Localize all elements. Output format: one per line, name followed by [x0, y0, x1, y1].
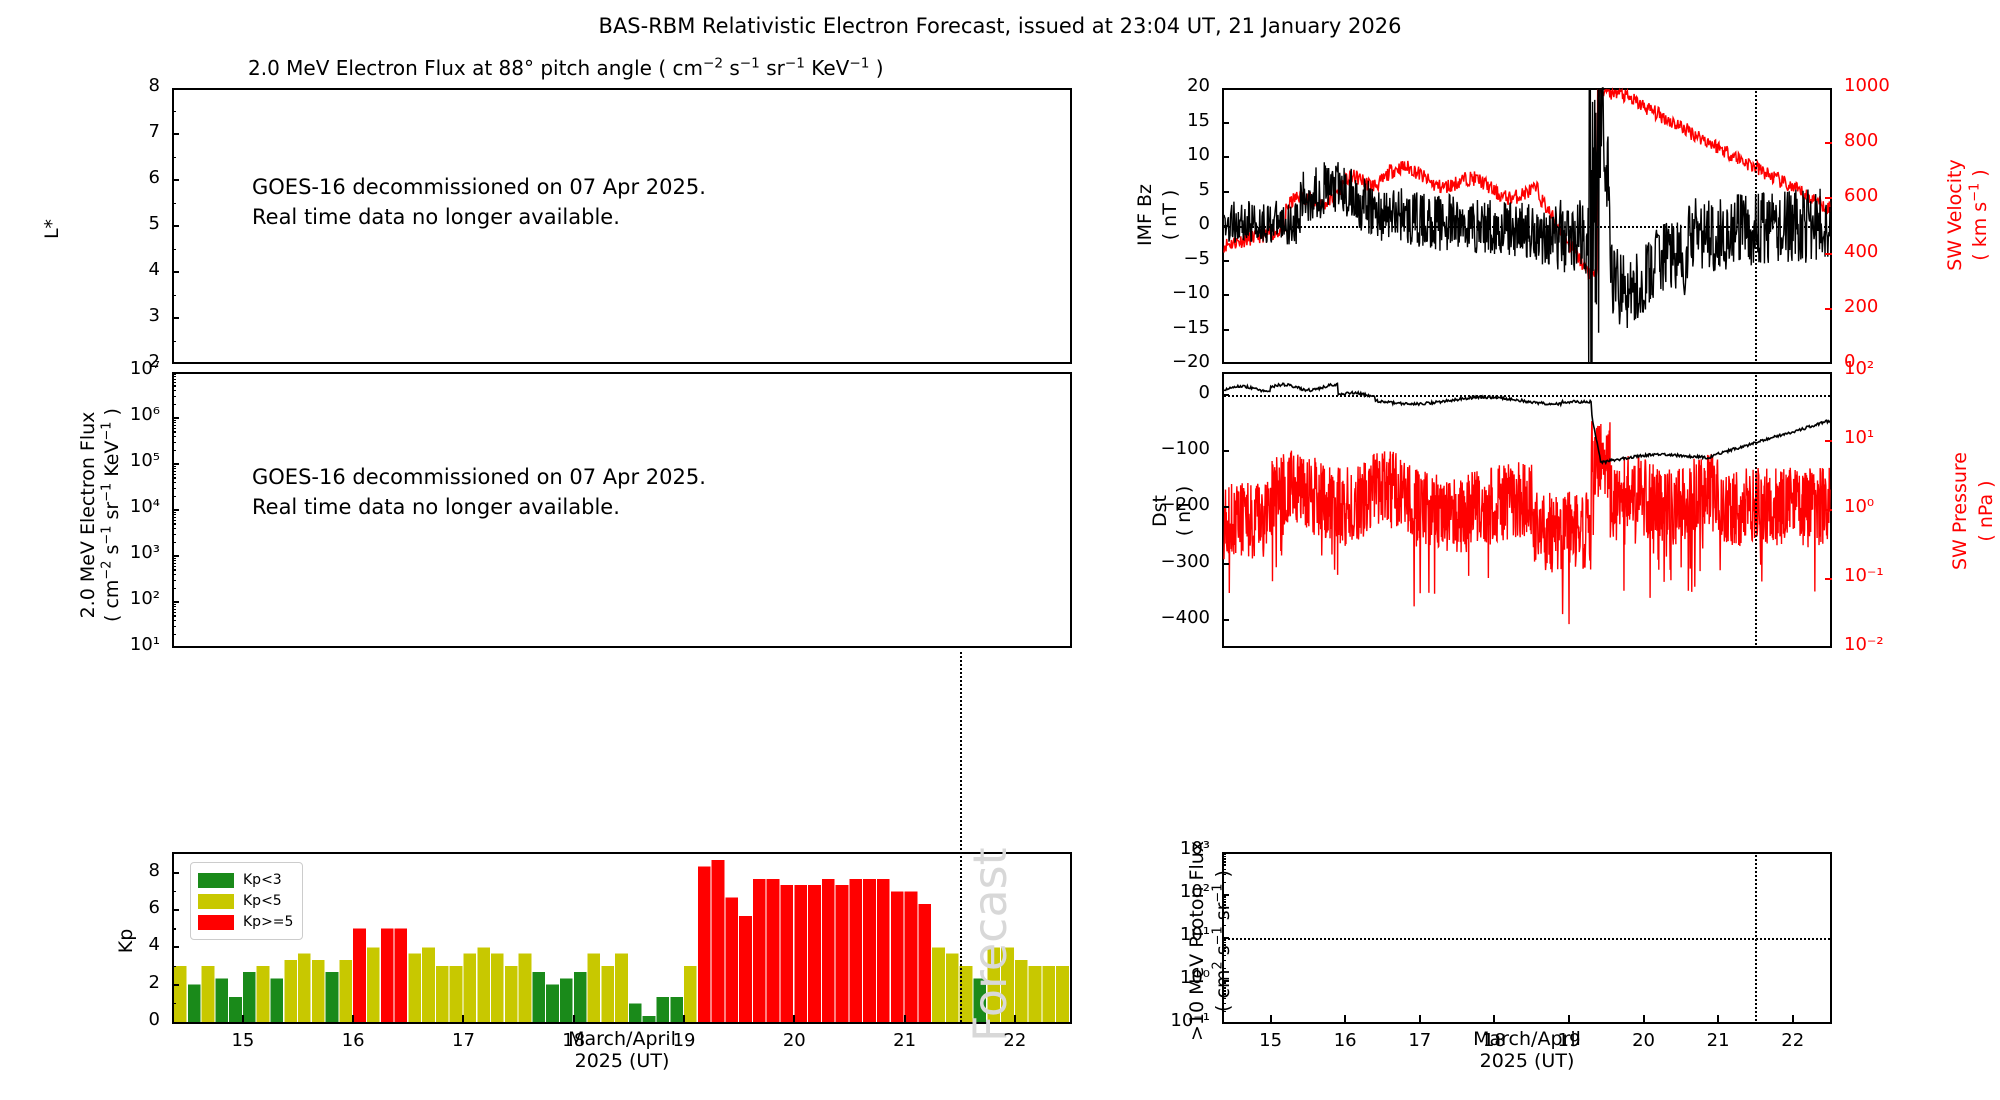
axis-tick-label: 0	[149, 1009, 160, 1030]
axis-tick	[352, 1015, 354, 1022]
axis-tick-label: 0	[1199, 213, 1210, 234]
axis-tick-label: 10⁷	[130, 358, 160, 379]
axis-tick-label: 10¹	[1180, 924, 1210, 945]
axis-tick	[172, 436, 176, 438]
axis-tick-label: 5	[149, 213, 160, 234]
bz-y-axis-label-line1: IMF Bz	[1134, 155, 1156, 275]
axis-tick	[1222, 907, 1226, 909]
axis-tick-label: 18	[1483, 1030, 1506, 1051]
axis-tick	[172, 341, 176, 343]
axis-tick-label: 20	[1632, 1030, 1655, 1051]
axis-tick	[1222, 864, 1226, 866]
kp-legend-row-mid: Kp<5	[198, 891, 293, 911]
axis-tick	[1222, 861, 1226, 863]
axis-tick-label: 4	[149, 259, 160, 280]
axis-tick	[1222, 853, 1226, 855]
axis-tick	[172, 966, 176, 968]
axis-tick-label: 20	[783, 1030, 806, 1051]
axis-tick	[1222, 947, 1226, 949]
axis-tick	[172, 390, 176, 392]
axis-tick	[1222, 563, 1229, 565]
page-title: BAS-RBM Relativistic Electron Forecast, …	[0, 14, 2000, 38]
axis-tick	[172, 425, 176, 427]
axis-tick	[172, 396, 176, 398]
axis-tick	[1825, 308, 1832, 310]
axis-tick	[1222, 619, 1229, 621]
proton-xlabel-line2: 2025 (UT)	[1377, 1050, 1677, 1072]
axis-tick-label: 15	[1259, 1030, 1282, 1051]
kp-legend-label-low: Kp<3	[243, 872, 282, 888]
forecast-divider	[1755, 852, 1757, 1024]
axis-tick-label: −20	[1172, 351, 1210, 372]
axis-tick-label: 6	[149, 897, 160, 918]
axis-tick	[172, 588, 176, 590]
axis-tick	[172, 428, 176, 430]
axis-tick-label: −200	[1161, 494, 1210, 515]
axis-tick	[172, 295, 176, 297]
flux-message-line1: GOES-16 decommissioned on 07 Apr 2025.	[252, 465, 706, 489]
axis-tick	[172, 566, 176, 568]
axis-tick-label: 10¹	[1844, 427, 1874, 448]
flux-unit-sr: sr	[101, 502, 123, 526]
axis-tick	[172, 580, 176, 582]
axis-tick	[1222, 990, 1226, 992]
axis-tick	[172, 558, 176, 560]
axis-tick	[172, 612, 176, 614]
kp-legend-label-high: Kp>=5	[243, 914, 293, 930]
axis-tick	[172, 379, 176, 381]
axis-tick-label: 17	[452, 1030, 475, 1051]
exp-cm: −2	[703, 55, 723, 71]
axis-tick	[172, 422, 176, 424]
axis-tick	[683, 1015, 685, 1022]
axis-tick-label: 8	[149, 75, 160, 96]
axis-tick-label: 16	[342, 1030, 365, 1051]
axis-tick	[1222, 950, 1226, 952]
axis-tick	[172, 560, 176, 562]
axis-tick-label: 3	[149, 305, 160, 326]
subtitle-text-b: pitch angle ( cm	[534, 56, 703, 80]
exp-sr: −1	[785, 55, 805, 71]
kp-legend-swatch-low	[198, 873, 234, 888]
dst-zero-line	[1224, 395, 1830, 397]
axis-tick	[1222, 960, 1226, 962]
axis-tick	[172, 431, 176, 433]
degree-symbol: °	[524, 56, 534, 80]
kp-legend-swatch-high	[198, 915, 234, 930]
axis-tick	[172, 442, 176, 444]
axis-tick	[172, 180, 176, 182]
flux-exp-cm: −2	[100, 561, 115, 580]
axis-tick-label: 10⁻¹	[1844, 565, 1884, 586]
axis-tick-label: 10⁵	[130, 450, 160, 471]
bz-y-axis-label-line2: ( nT )	[1159, 155, 1181, 275]
forecast-figure: BAS-RBM Relativistic Electron Forecast, …	[0, 0, 2000, 1100]
axis-tick	[1222, 987, 1226, 989]
lstar-message-line1: GOES-16 decommissioned on 07 Apr 2025.	[252, 175, 706, 199]
subtitle-text-e: KeV	[805, 56, 849, 80]
axis-tick	[573, 1015, 575, 1022]
axis-tick	[172, 946, 179, 948]
axis-tick-label: 7	[149, 121, 160, 142]
axis-tick	[172, 620, 176, 622]
axis-tick-label: 19	[1558, 1030, 1581, 1051]
subtitle-text-f: )	[869, 56, 883, 80]
axis-tick-label: 800	[1844, 130, 1878, 151]
axis-tick	[1222, 329, 1229, 331]
sw-velocity-label-line2: ( km s−1 )	[1969, 130, 1991, 300]
axis-tick	[172, 528, 176, 530]
axis-tick	[1825, 253, 1832, 255]
axis-tick	[1222, 856, 1226, 858]
axis-tick	[1344, 1015, 1346, 1022]
lstar-message: GOES-16 decommissioned on 07 Apr 2025. R…	[252, 172, 706, 233]
lstar-subtitle: 2.0 MeV Electron Flux at 88° pitch angle…	[248, 56, 884, 80]
axis-tick	[172, 249, 176, 251]
axis-tick	[1222, 942, 1226, 944]
axis-tick	[172, 272, 176, 274]
axis-tick-label: −15	[1172, 317, 1210, 338]
axis-tick	[793, 1015, 795, 1022]
axis-tick	[172, 376, 176, 378]
axis-tick	[1222, 1011, 1226, 1013]
axis-tick	[1825, 142, 1832, 144]
axis-tick	[172, 984, 179, 986]
exp-kev: −1	[849, 55, 869, 71]
axis-tick	[1792, 1015, 1794, 1022]
forecast-divider	[1755, 88, 1757, 364]
axis-tick	[1270, 1015, 1272, 1022]
flux-exp-s: −1	[100, 526, 115, 545]
axis-tick-label: 200	[1844, 296, 1878, 317]
axis-tick	[1222, 998, 1226, 1000]
axis-tick-label: 10⁰	[1844, 496, 1874, 517]
axis-tick-label: 10²	[1180, 881, 1210, 902]
flux-unit-open: ( cm	[101, 580, 123, 622]
bz-zero-line	[1224, 226, 1830, 228]
axis-tick	[172, 563, 176, 565]
axis-tick	[1222, 904, 1226, 906]
axis-tick-label: 10⁶	[130, 404, 160, 425]
axis-tick	[172, 203, 176, 205]
axis-tick	[172, 606, 176, 608]
axis-tick	[1222, 901, 1226, 903]
axis-tick-label: 10⁻¹	[1170, 1010, 1210, 1031]
axis-tick-label: 10³	[130, 542, 160, 563]
flux-unit-close: )	[101, 408, 123, 421]
axis-tick	[1717, 1015, 1719, 1022]
axis-tick	[1222, 899, 1226, 901]
axis-tick-label: 20	[1187, 75, 1210, 96]
axis-tick-label: 15	[231, 1030, 254, 1051]
axis-tick-label: 8	[149, 860, 160, 881]
flux-unit-kev: KeV	[101, 441, 123, 483]
axis-tick	[172, 420, 176, 422]
subtitle-text-d: sr	[760, 56, 785, 80]
axis-tick-label: 10²	[1844, 358, 1874, 379]
axis-tick	[1222, 993, 1226, 995]
axis-tick	[172, 496, 176, 498]
axis-tick-label: −100	[1161, 438, 1210, 459]
axis-tick	[1222, 191, 1229, 193]
sw-pressure-label-line2: ( nPa )	[1975, 421, 1997, 601]
subtitle-text-a: 2.0 MeV Electron Flux at 88	[248, 56, 524, 80]
axis-tick-label: 10¹	[130, 634, 160, 655]
axis-tick	[1222, 294, 1229, 296]
axis-tick	[1222, 874, 1226, 876]
flux-y-axis-label-line1: 2.0 MeV Electron Flux	[77, 365, 99, 665]
axis-tick	[1493, 1015, 1495, 1022]
axis-tick	[904, 1015, 906, 1022]
axis-tick	[172, 615, 176, 617]
flux-exp-kev: −1	[100, 421, 115, 440]
axis-tick-label: −5	[1183, 248, 1210, 269]
axis-tick	[242, 1015, 244, 1022]
axis-tick	[1222, 506, 1229, 508]
axis-tick-label: 16	[1334, 1030, 1357, 1051]
axis-tick	[172, 891, 176, 893]
axis-tick-label: 10⁴	[130, 496, 160, 517]
axis-tick	[172, 382, 176, 384]
axis-tick	[172, 474, 176, 476]
axis-tick	[172, 226, 176, 228]
axis-tick-label: 0	[1199, 382, 1210, 403]
axis-tick-label: 10⁻²	[1844, 634, 1884, 655]
kp-x-axis-label: March/April 2025 (UT)	[472, 1028, 772, 1072]
axis-tick-label: 17	[1408, 1030, 1431, 1051]
axis-tick-label: 4	[149, 934, 160, 955]
axis-tick-label: 5	[1199, 179, 1210, 200]
axis-tick	[172, 318, 176, 320]
axis-tick	[172, 488, 176, 490]
axis-tick	[172, 404, 176, 406]
axis-tick-label: 21	[893, 1030, 916, 1051]
axis-tick-label: 21	[1707, 1030, 1730, 1051]
axis-tick	[172, 534, 176, 536]
axis-tick	[1825, 509, 1832, 511]
flux-y-axis-label-line2: ( cm−2 s−1 sr−1 KeV−1 )	[101, 365, 123, 665]
axis-tick-label: 2	[149, 972, 160, 993]
axis-tick	[172, 385, 176, 387]
axis-tick	[1222, 858, 1226, 860]
axis-tick	[1222, 912, 1226, 914]
axis-tick-label: −300	[1161, 551, 1210, 572]
kp-legend-swatch-mid	[198, 894, 234, 909]
axis-tick	[1222, 955, 1226, 957]
axis-tick-label: 18	[562, 1030, 585, 1051]
kp-xlabel-line1: March/April	[472, 1028, 772, 1050]
lstar-y-axis-label: L*	[41, 169, 63, 289]
proton-unit-sr: sr	[1212, 903, 1234, 927]
axis-tick	[1222, 260, 1229, 262]
dst-plot	[1224, 374, 1830, 646]
axis-tick	[1222, 917, 1226, 919]
axis-tick	[1222, 982, 1226, 984]
axis-tick	[172, 450, 176, 452]
axis-tick-label: 10	[1187, 144, 1210, 165]
kp-legend-label-mid: Kp<5	[243, 893, 282, 909]
sw-pressure-label-line1: SW Pressure	[1949, 421, 1971, 601]
axis-tick	[172, 471, 176, 473]
axis-tick-label: 22	[1003, 1030, 1026, 1051]
swv-unit-close: )	[1969, 169, 1991, 182]
axis-tick	[1419, 1015, 1421, 1022]
axis-tick	[1825, 197, 1832, 199]
forecast-divider	[1755, 372, 1757, 648]
kp-xlabel-line2: 2025 (UT)	[472, 1050, 772, 1072]
axis-tick	[1643, 1015, 1645, 1022]
axis-tick-label: 10³	[1180, 838, 1210, 859]
axis-tick	[172, 517, 176, 519]
axis-tick-label: 1000	[1844, 75, 1890, 96]
axis-tick	[172, 569, 176, 571]
axis-tick	[172, 468, 176, 470]
axis-tick	[172, 872, 179, 874]
axis-tick	[1222, 156, 1229, 158]
axis-tick	[172, 134, 176, 136]
proton-threshold-line	[1224, 938, 1830, 940]
axis-tick	[172, 909, 179, 911]
kp-legend-row-high: Kp>=5	[198, 912, 293, 932]
axis-tick	[172, 523, 176, 525]
axis-tick	[172, 609, 176, 611]
axis-tick	[172, 514, 176, 516]
axis-tick	[172, 374, 176, 376]
axis-tick	[172, 466, 176, 468]
axis-tick	[1014, 1015, 1016, 1022]
forecast-watermark: Forecast	[963, 872, 1017, 1042]
flux-message: GOES-16 decommissioned on 07 Apr 2025. R…	[252, 462, 706, 523]
axis-tick	[1222, 925, 1226, 927]
lstar-message-line2: Real time data no longer available.	[252, 205, 620, 229]
axis-tick	[1222, 450, 1229, 452]
forecast-divider	[960, 652, 962, 1022]
kp-legend: Kp<3 Kp<5 Kp>=5	[190, 862, 303, 940]
axis-tick	[1825, 578, 1832, 580]
axis-tick	[1222, 944, 1226, 946]
axis-tick	[172, 542, 176, 544]
swv-exp: −1	[1968, 183, 1983, 202]
sw-velocity-label-line1: SW Velocity	[1944, 130, 1966, 300]
axis-tick	[172, 477, 176, 479]
axis-tick	[172, 928, 176, 930]
subtitle-text-c: s	[723, 56, 740, 80]
axis-tick-label: 6	[149, 167, 160, 188]
axis-tick	[172, 626, 176, 628]
axis-tick	[172, 482, 176, 484]
axis-tick	[1825, 440, 1832, 442]
axis-tick-label: 600	[1844, 185, 1878, 206]
flux-exp-sr: −1	[100, 483, 115, 502]
axis-tick	[462, 1015, 464, 1022]
axis-tick-label: −10	[1172, 282, 1210, 303]
axis-tick	[172, 574, 176, 576]
kp-bar-chart	[174, 854, 1070, 1022]
swv-unit-open: ( km s	[1969, 202, 1991, 261]
axis-tick	[172, 157, 176, 159]
axis-tick	[172, 512, 176, 514]
axis-tick	[172, 1003, 176, 1005]
kp-legend-row-low: Kp<3	[198, 870, 293, 890]
axis-tick-label: 400	[1844, 241, 1878, 262]
axis-tick	[1222, 869, 1226, 871]
axis-tick	[1222, 896, 1226, 898]
axis-tick	[172, 520, 176, 522]
axis-tick-label: 10²	[130, 588, 160, 609]
exp-s: −1	[740, 55, 760, 71]
axis-tick-label: 15	[1187, 110, 1210, 131]
axis-tick	[1568, 1015, 1570, 1022]
axis-tick	[1222, 122, 1229, 124]
axis-tick	[172, 604, 176, 606]
axis-tick-label: −400	[1161, 607, 1210, 628]
axis-tick	[172, 111, 176, 113]
kp-y-axis-label: Kp	[115, 881, 137, 1001]
axis-tick	[1222, 1003, 1226, 1005]
axis-tick	[1222, 985, 1226, 987]
axis-tick-label: 10⁰	[1180, 967, 1210, 988]
axis-tick	[1222, 968, 1226, 970]
axis-tick	[1222, 882, 1226, 884]
axis-tick	[172, 634, 176, 636]
axis-tick-label: 22	[1781, 1030, 1804, 1051]
flux-message-line2: Real time data no longer available.	[252, 495, 620, 519]
flux-unit-s: s	[101, 545, 123, 561]
axis-tick-label: 19	[673, 1030, 696, 1051]
